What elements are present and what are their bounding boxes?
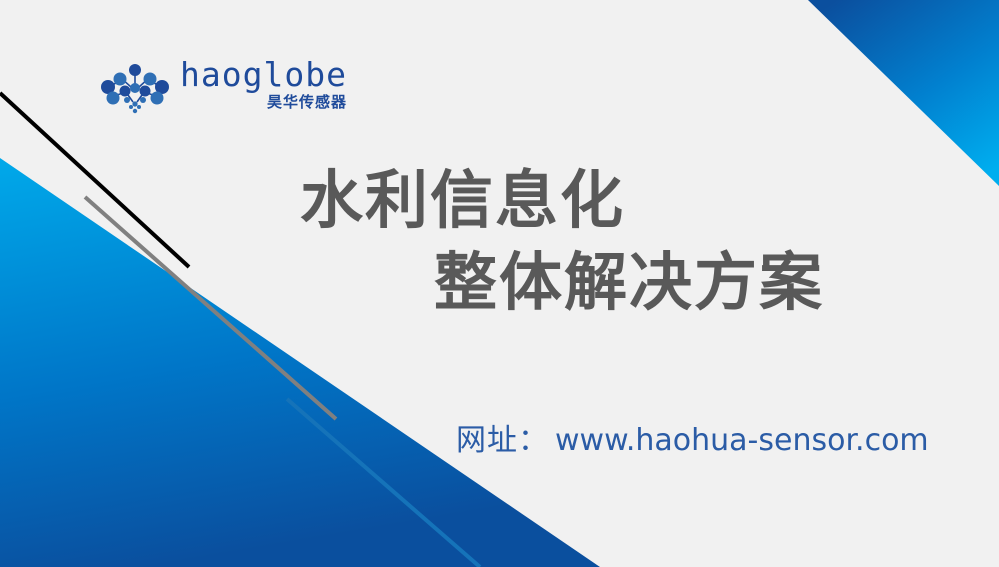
logo-subtitle: 昊华传感器 xyxy=(267,93,347,111)
title-line-2: 整体解决方案 xyxy=(300,242,920,324)
title-line-1: 水利信息化 xyxy=(300,160,920,242)
logo-text-block: haoglobe 昊华传感器 xyxy=(180,58,347,111)
website-line: 网址：www.haohua-sensor.com xyxy=(456,420,929,462)
page-title: 水利信息化 整体解决方案 xyxy=(300,160,920,324)
haoglobe-molecule-logo-icon xyxy=(98,62,172,114)
company-logo: haoglobe 昊华传感器 xyxy=(98,58,347,118)
website-url[interactable]: www.haohua-sensor.com xyxy=(555,423,929,458)
slide-canvas: haoglobe 昊华传感器 水利信息化 整体解决方案 网址：www.haohu… xyxy=(0,0,999,567)
website-label: 网址： xyxy=(456,423,549,458)
logo-wordmark: haoglobe xyxy=(180,58,347,92)
top-right-triangle xyxy=(808,0,999,186)
